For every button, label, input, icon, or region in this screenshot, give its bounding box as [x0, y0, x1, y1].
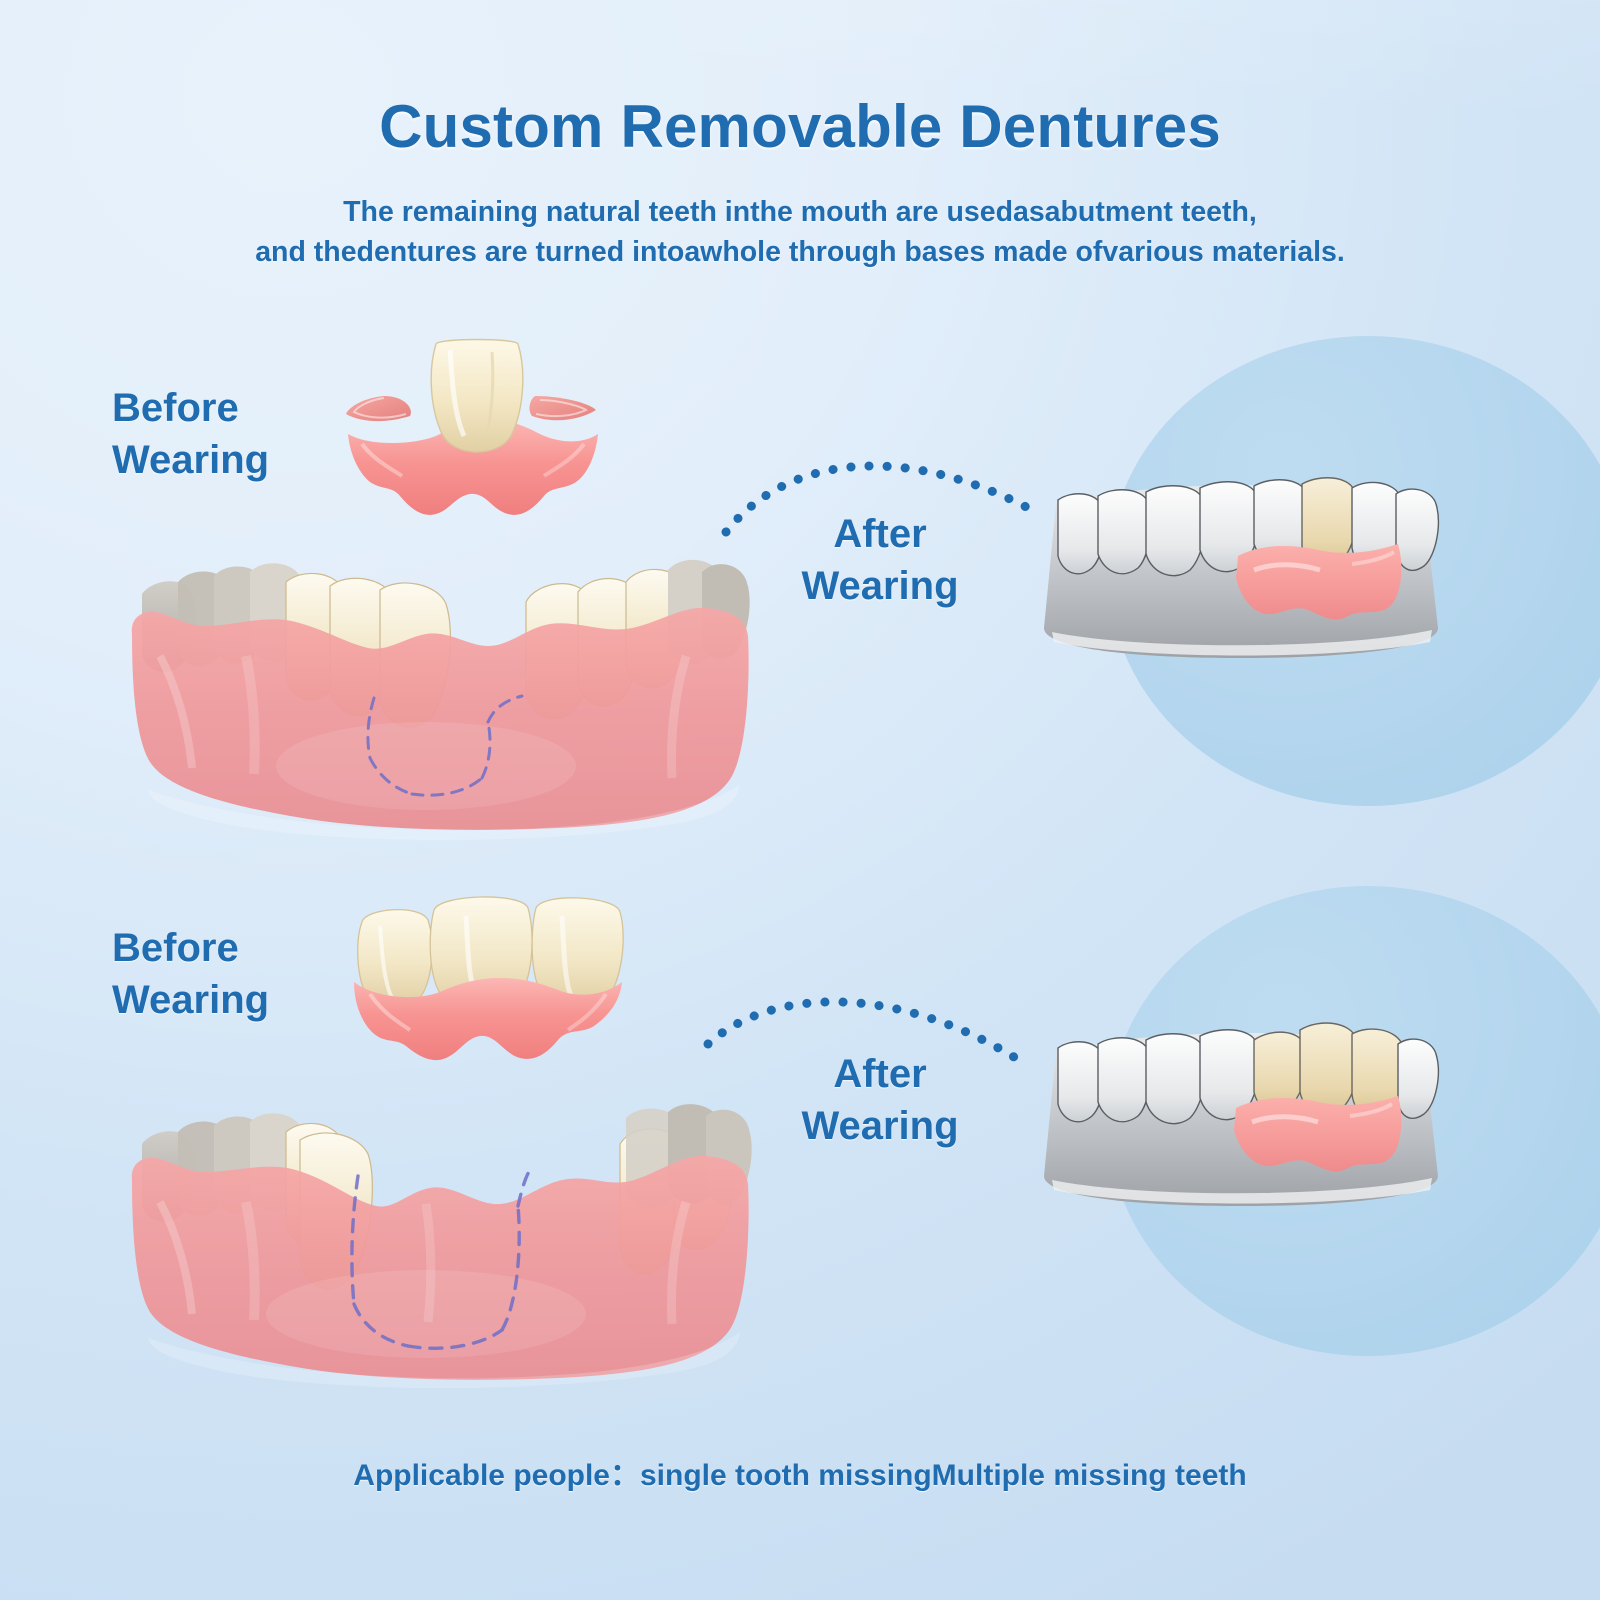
before-wearing-label-1-line2: Wearing	[112, 434, 269, 486]
infographic-page: Custom Removable Dentures The remaining …	[0, 0, 1600, 1600]
denture-appliance-icon-multiple	[340, 886, 640, 1076]
after-wearing-label-1-line1: After	[800, 508, 960, 560]
applicable-people-caption: Applicable people：single tooth missingMu…	[0, 1450, 1600, 1494]
before-wearing-label-1-line1: Before	[112, 382, 269, 434]
jaw-inset-icon-single	[1000, 452, 1480, 692]
after-wearing-label-1: After Wearing	[800, 508, 960, 612]
before-wearing-label-1: Before Wearing	[112, 382, 269, 486]
subtitle-line-2: and thedentures are turned intoawhole th…	[0, 232, 1600, 272]
before-wearing-label-2-line1: Before	[112, 922, 269, 974]
jaw-model-icon-single-gap	[126, 506, 756, 846]
page-title: Custom Removable Dentures	[0, 92, 1600, 161]
after-wearing-label-1-line2: Wearing	[800, 560, 960, 612]
before-wearing-label-2: Before Wearing	[112, 922, 269, 1026]
subtitle-line-1: The remaining natural teeth inthe mouth …	[0, 192, 1600, 232]
page-subtitle: The remaining natural teeth inthe mouth …	[0, 192, 1600, 272]
after-wearing-label-2-line1: After	[800, 1048, 960, 1100]
jaw-model-icon-multi-gap	[126, 1056, 756, 1396]
after-wearing-label-2: After Wearing	[800, 1048, 960, 1152]
jaw-inset-icon-multiple	[1000, 1000, 1480, 1240]
before-wearing-label-2-line2: Wearing	[112, 974, 269, 1026]
after-wearing-label-2-line2: Wearing	[800, 1100, 960, 1152]
